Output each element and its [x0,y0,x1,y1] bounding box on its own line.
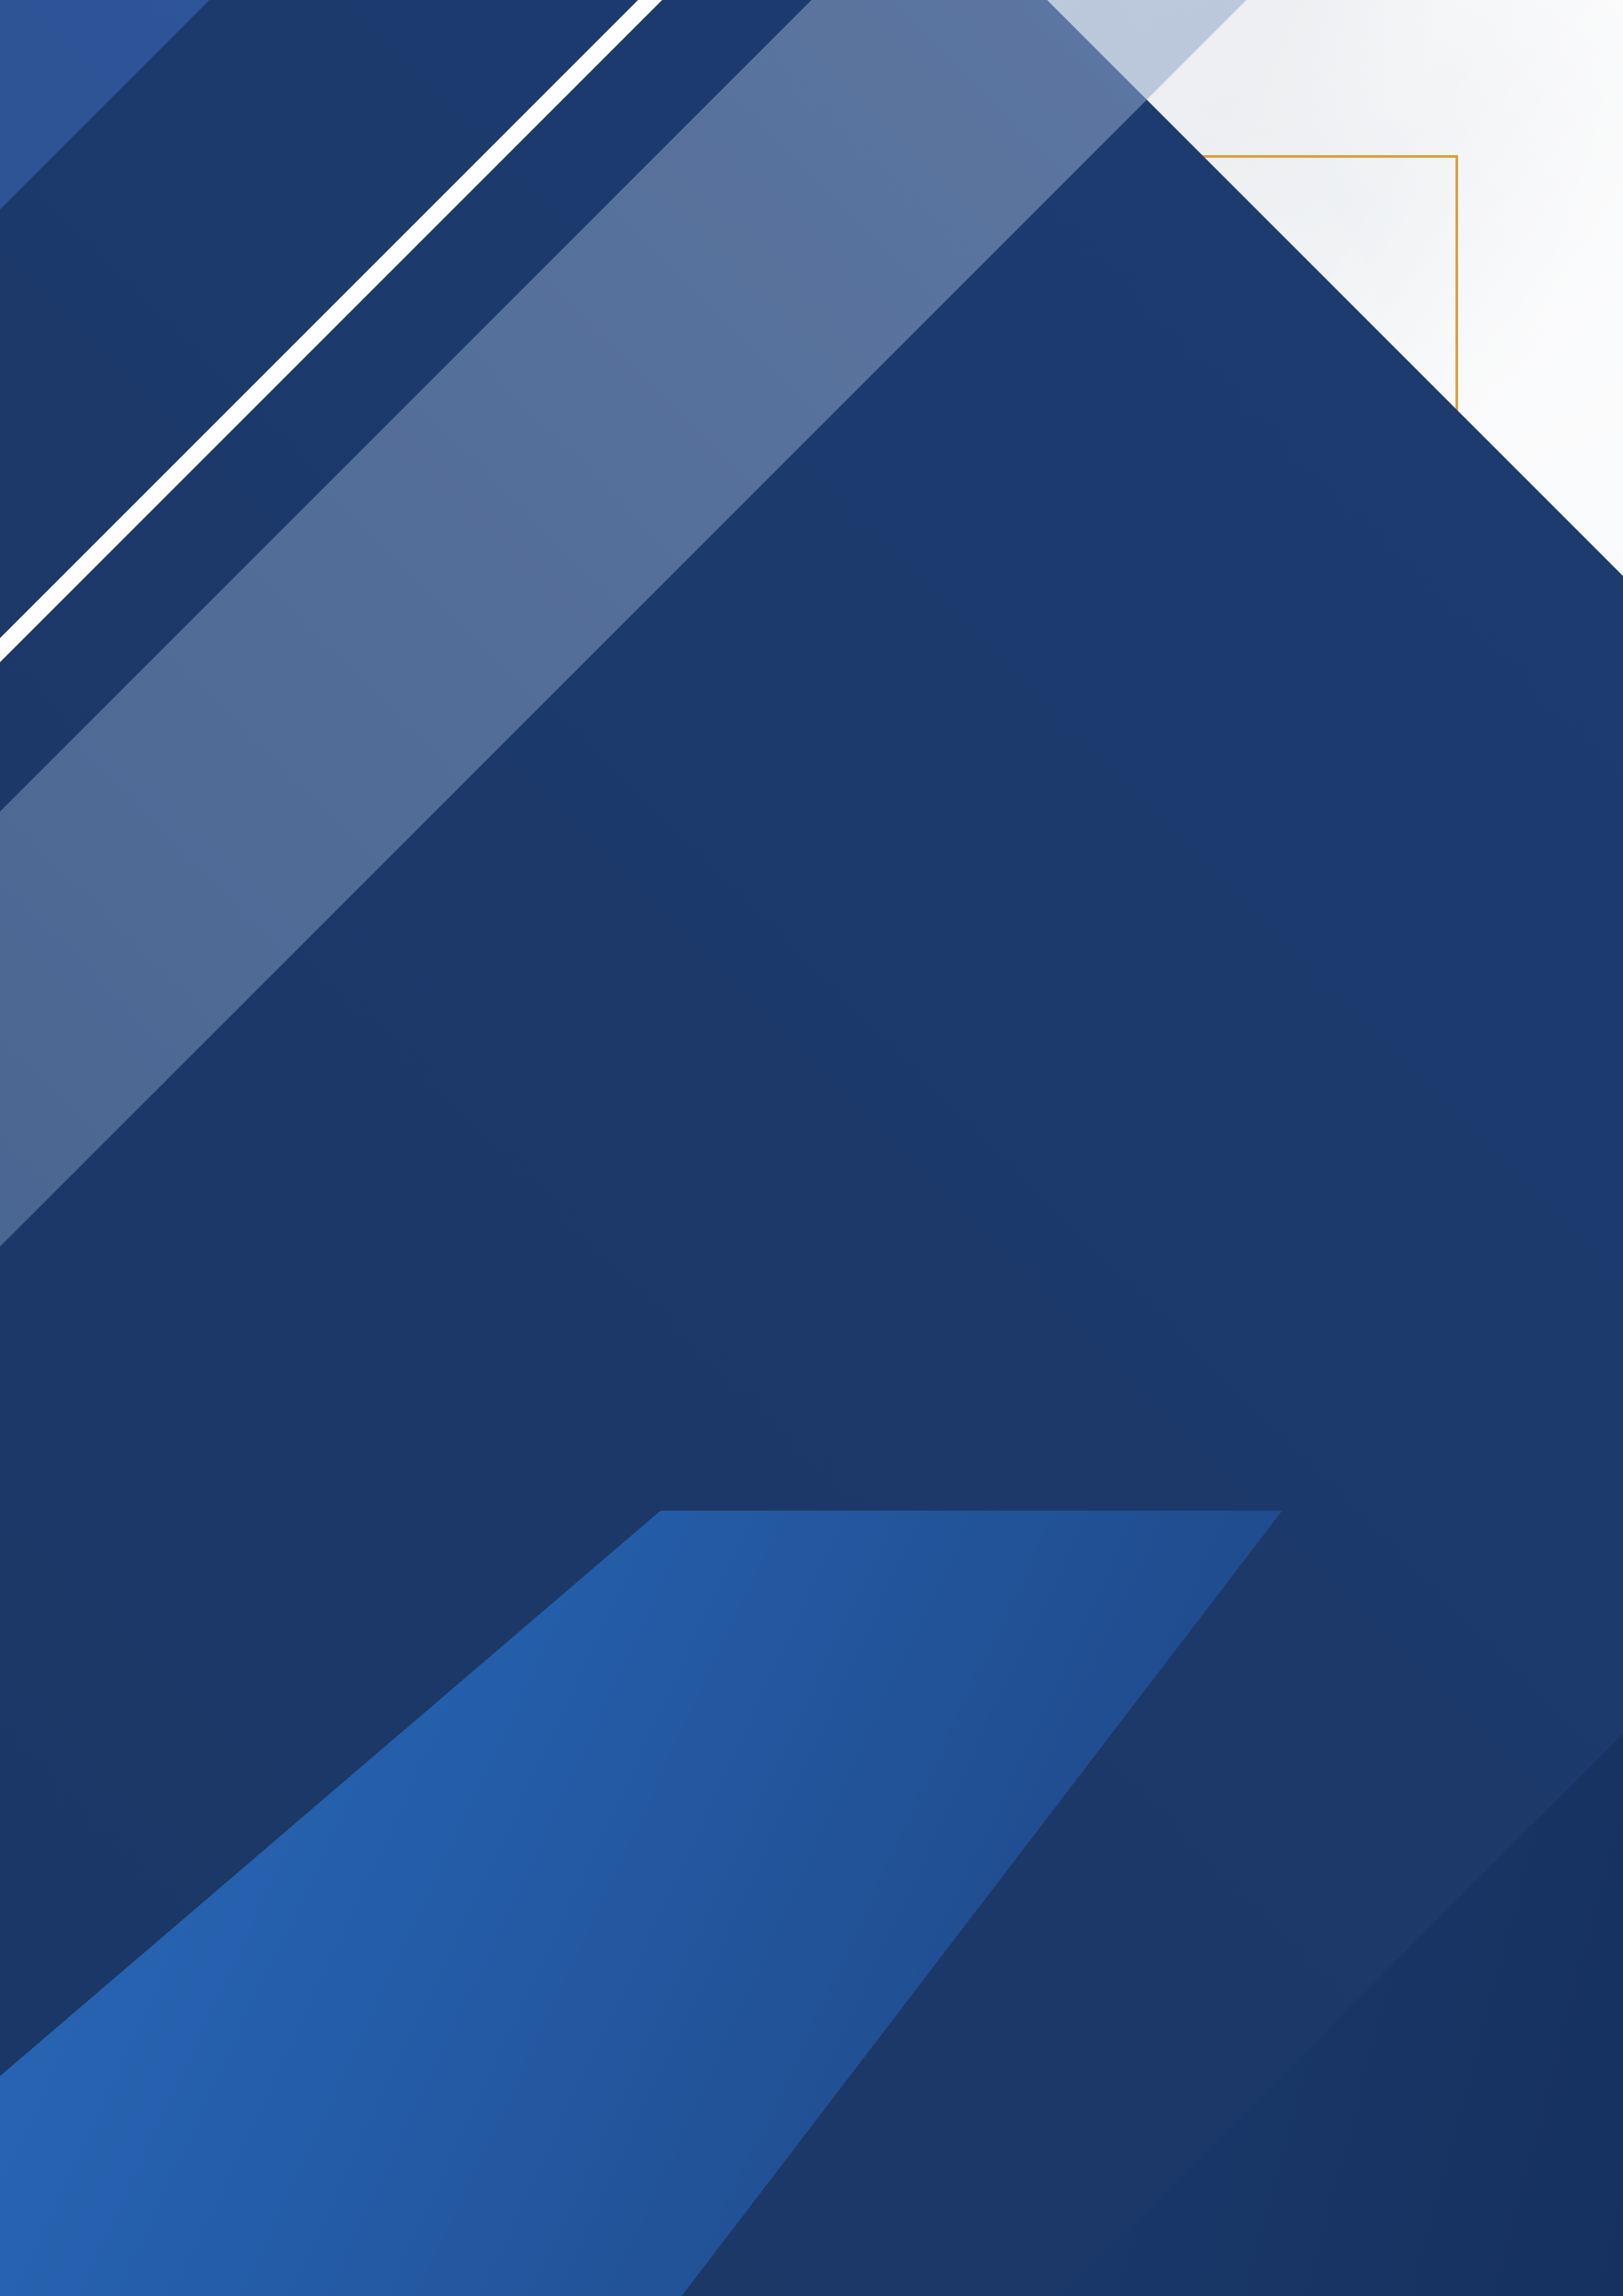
cover-page: AMERICAN CHAMBER OF COMMERCE MONGOLIA AN… [0,0,1623,2296]
